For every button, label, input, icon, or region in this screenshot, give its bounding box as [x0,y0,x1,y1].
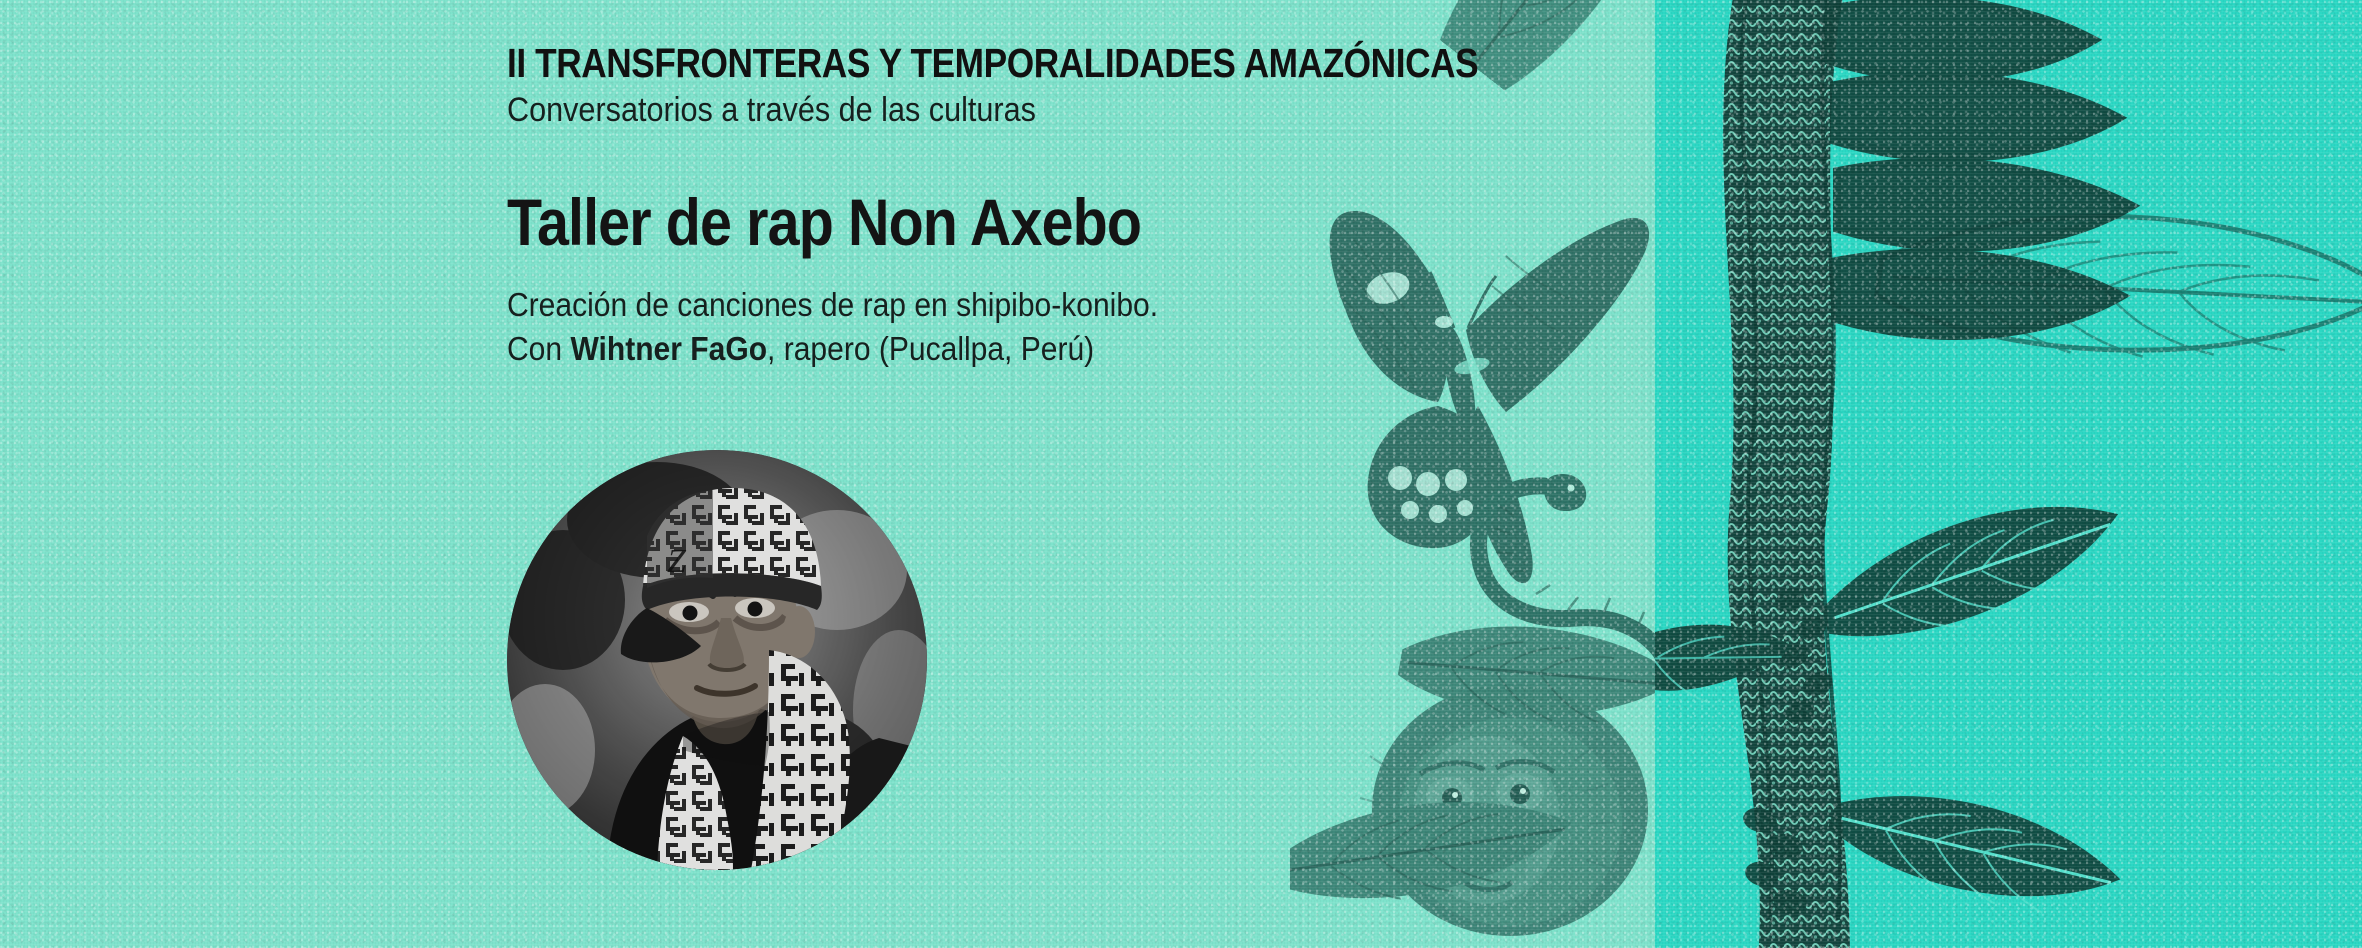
credit-artist-name: Wihtner FaGo [570,330,767,367]
credit-suffix: , rapero (Pucallpa, Perú) [767,330,1094,367]
poster-banner: II TRANSFRONTERAS Y TEMPORALIDADES AMAZÓ… [0,0,2362,948]
page-title: Taller de rap Non Axebo [507,188,1481,257]
event-details: Creación de canciones de rap en shipibo-… [507,283,1627,370]
poster-text-block: II TRANSFRONTERAS Y TEMPORALIDADES AMAZÓ… [507,42,1627,371]
event-credit: Con Wihtner FaGo, rapero (Pucallpa, Perú… [507,327,1526,371]
credit-prefix: Con [507,330,570,367]
event-series-title: II TRANSFRONTERAS Y TEMPORALIDADES AMAZÓ… [507,42,1470,85]
avatar: Z [507,450,927,870]
event-description: Creación de canciones de rap en shipibo-… [507,283,1526,327]
event-series-subtitle: Conversatorios a través de las culturas [507,91,1515,130]
